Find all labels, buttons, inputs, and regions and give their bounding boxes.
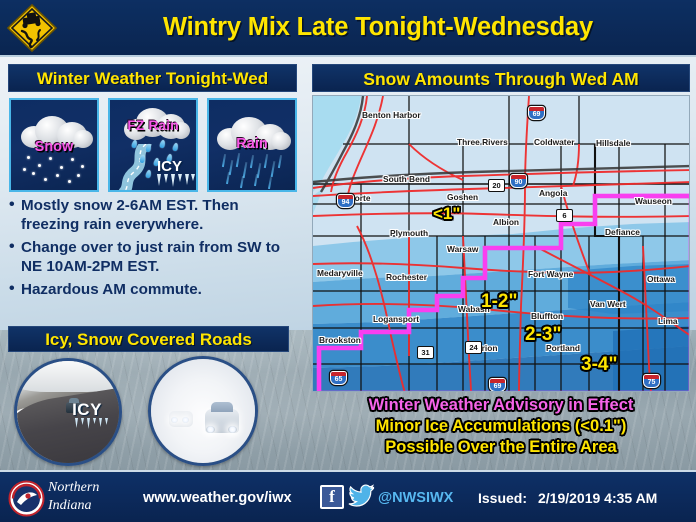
tile-rain: Rain bbox=[207, 98, 297, 192]
roads-header: Icy, Snow Covered Roads bbox=[8, 326, 289, 352]
city-label: Defiance bbox=[605, 227, 640, 237]
issued-label: Issued: bbox=[478, 490, 527, 506]
nws-logo-icon bbox=[8, 480, 45, 517]
icy-photo-caption: ICY bbox=[72, 400, 102, 420]
city-label: Albion bbox=[493, 217, 519, 227]
interstate-shield-icon: 69 bbox=[528, 106, 545, 120]
office-name: Northern Indiana bbox=[48, 479, 122, 515]
us-route-shield-icon: 24 bbox=[465, 341, 482, 354]
left-panel-header: Winter Weather Tonight-Wed bbox=[8, 64, 297, 92]
interstate-shield-icon: 90 bbox=[510, 174, 527, 188]
city-label: Wauseon bbox=[635, 196, 672, 206]
tile-rain-label: Rain bbox=[209, 136, 295, 152]
interstate-shield-icon: 65 bbox=[330, 371, 347, 385]
slippery-road-sign-icon bbox=[6, 3, 58, 53]
city-label: Goshen bbox=[447, 192, 478, 202]
city-label: Warsaw bbox=[447, 244, 478, 254]
icicles-icon bbox=[74, 418, 112, 431]
office-name-line2: Indiana bbox=[48, 497, 122, 515]
city-label: Angola bbox=[539, 188, 567, 198]
tile-snow-label: Snow bbox=[11, 139, 97, 155]
footer-bar: Northern Indiana www.weather.gov/iwx f @… bbox=[0, 470, 696, 522]
city-label: Fort Wayne bbox=[528, 269, 573, 279]
tile-snow: Snow bbox=[9, 98, 99, 192]
city-label: Brookston bbox=[319, 335, 361, 345]
interstate-shield-icon: 94 bbox=[337, 194, 354, 208]
office-name-line1: Northern bbox=[48, 479, 122, 497]
advisory-line-3: Possible Over the Entire Area bbox=[312, 438, 690, 457]
snow-amount-label: 1-2" bbox=[481, 291, 517, 313]
city-label: Van Wert bbox=[590, 299, 626, 309]
city-label: Medaryville bbox=[317, 268, 363, 278]
foggy-road-photo bbox=[148, 356, 258, 466]
interstate-shield-icon: 75 bbox=[643, 374, 660, 388]
bullet-item: Change over to just rain from SW to NE 1… bbox=[8, 238, 300, 276]
icy-text: ICY bbox=[157, 158, 182, 175]
facebook-icon[interactable]: f bbox=[320, 485, 344, 509]
issued-timestamp: 2/19/2019 4:35 AM bbox=[538, 490, 657, 506]
twitter-icon[interactable] bbox=[348, 484, 375, 509]
city-label: Hillsdale bbox=[596, 138, 630, 148]
bullet-item: Mostly snow 2-6AM EST. Then freezing rai… bbox=[8, 196, 300, 234]
city-label: Bluffton bbox=[531, 311, 563, 321]
weather-graphic: Wintry Mix Late Tonight-Wednesday Winter… bbox=[0, 0, 696, 522]
us-route-shield-icon: 31 bbox=[417, 346, 434, 359]
snow-amount-map[interactable]: Benton Harbor Three Rivers Coldwater Hil… bbox=[312, 95, 690, 392]
bullet-item: Hazardous AM commute. bbox=[8, 280, 300, 299]
tile-freezing-rain: FZ Rain ICY bbox=[108, 98, 198, 192]
twitter-handle[interactable]: @NWSIWX bbox=[378, 490, 453, 506]
title-bar: Wintry Mix Late Tonight-Wednesday bbox=[0, 0, 696, 57]
city-label: Ottawa bbox=[647, 274, 675, 284]
advisory-line-1: Winter Weather Advisory in Effect bbox=[312, 396, 690, 415]
city-label: Plymouth bbox=[390, 228, 428, 238]
us-route-shield-icon: 6 bbox=[556, 209, 573, 222]
city-label: Rochester bbox=[386, 272, 427, 282]
city-label: Coldwater bbox=[534, 137, 575, 147]
city-label: Logansport bbox=[373, 314, 419, 324]
city-label: Benton Harbor bbox=[362, 110, 421, 120]
snow-amount-label: <1" bbox=[433, 204, 460, 224]
icicles-icon bbox=[156, 174, 196, 188]
advisory-line-2: Minor Ice Accumulations (<0.1") bbox=[312, 417, 690, 436]
bullet-list: Mostly snow 2-6AM EST. Then freezing rai… bbox=[8, 196, 300, 303]
page-title: Wintry Mix Late Tonight-Wednesday bbox=[64, 0, 692, 55]
us-route-shield-icon: 20 bbox=[488, 179, 505, 192]
snow-amount-label: 3-4" bbox=[581, 354, 617, 376]
snow-amount-label: 2-3" bbox=[525, 324, 561, 346]
icy-road-photo: ICY bbox=[14, 358, 122, 466]
city-label: Lima bbox=[658, 316, 678, 326]
city-label: South Bend bbox=[383, 174, 430, 184]
interstate-shield-icon: 69 bbox=[489, 378, 506, 392]
city-label: Three Rivers bbox=[457, 137, 508, 147]
tile-freezing-rain-label: FZ Rain bbox=[110, 117, 196, 133]
website-url[interactable]: www.weather.gov/iwx bbox=[143, 490, 292, 506]
weather-icon-row: Snow F bbox=[9, 98, 297, 192]
map-panel-header: Snow Amounts Through Wed AM bbox=[312, 64, 690, 92]
